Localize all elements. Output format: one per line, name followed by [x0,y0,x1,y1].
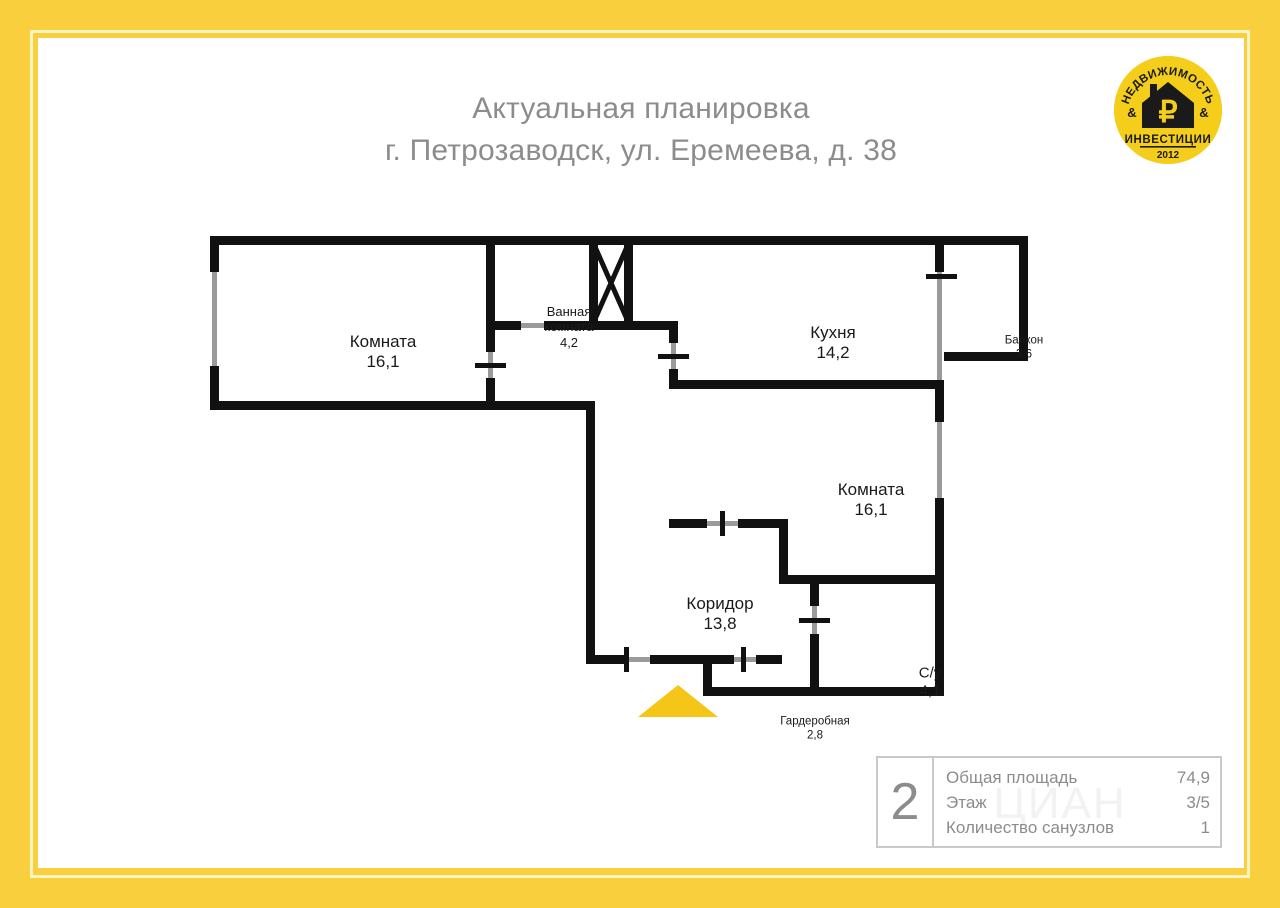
room-label-wardrobe: Гардеробная 2,8 [780,715,850,742]
info-label: Этаж [946,790,987,815]
summary-info-panel: 2 Общая площадь 74,9 Этаж 3/5 Количество… [876,756,1222,848]
room-label-corridor: Коридор 13,8 [686,594,753,634]
room-area: 3,6 [1005,348,1044,362]
room-label-bathroom: Ванная комната 4,2 [544,304,593,350]
room-area: 4,1 [919,682,942,700]
room-name: Коридор [686,594,753,614]
info-label: Общая площадь [946,765,1077,790]
walls [210,236,1028,696]
room-area: 2,8 [780,729,850,743]
info-rows: Общая площадь 74,9 Этаж 3/5 Количество с… [934,758,1220,846]
room-area: 16,1 [838,500,905,520]
room-label-kitchen: Кухня 14,2 [810,323,856,363]
room-area: 14,2 [810,343,856,363]
room-name-line-1: Ванная [544,304,593,319]
room-area: 4,2 [544,335,593,350]
room-name: Комната [350,332,417,352]
info-value: 3/5 [1186,790,1210,815]
plan-canvas: Актуальная планировка г. Петрозаводск, у… [38,38,1244,868]
room-name: Балкон [1005,334,1044,348]
info-value: 1 [1201,815,1210,840]
floorplan-page: Актуальная планировка г. Петрозаводск, у… [0,0,1280,908]
room-name: Кухня [810,323,856,343]
room-name: Гардеробная [780,715,850,729]
room-label-balcony: Балкон 3,6 [1005,334,1044,361]
room-name: Комната [838,480,905,500]
room-name-line-2: комната [544,319,593,334]
info-row-total-area: Общая площадь 74,9 [946,765,1210,790]
info-label: Количество санузлов [946,815,1114,840]
room-label-wc: С/у 4,1 [919,664,942,699]
room-area: 16,1 [350,352,417,372]
info-value: 74,9 [1177,765,1210,790]
floor-plan-drawing [38,38,1244,868]
plan-svg [38,38,1244,868]
room-area: 13,8 [686,614,753,634]
info-row-floor: Этаж 3/5 [946,790,1210,815]
room-label-room-1: Комната 16,1 [350,332,417,372]
room-label-room-2: Комната 16,1 [838,480,905,520]
room-name: С/у [919,664,942,682]
info-row-bathrooms: Количество санузлов 1 [946,815,1210,840]
rooms-count-badge: 2 [878,758,934,846]
